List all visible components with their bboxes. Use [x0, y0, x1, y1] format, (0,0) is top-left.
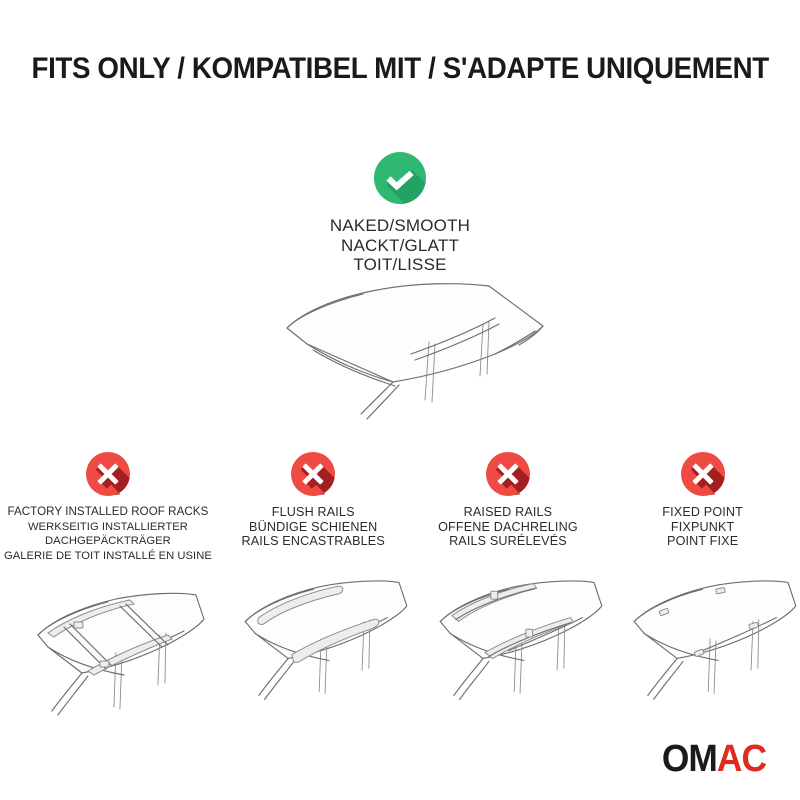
rejected-label-de-1: WERKSEITIG INSTALLIERTER	[4, 520, 212, 535]
rejected-label-de-2: DACHGEPÄCKTRÄGER	[4, 534, 212, 549]
rejected-labels: FACTORY INSTALLED ROOF RACKS WERKSEITIG …	[0, 505, 216, 563]
approved-label-en: NAKED/SMOOTH	[0, 216, 800, 236]
rejected-labels: RAISED RAILS OFFENE DACHRELING RAILS SUR…	[411, 505, 606, 549]
rejected-column-raised-rails: RAISED RAILS OFFENE DACHRELING RAILS SUR…	[411, 452, 606, 733]
rejected-column-flush-rails: FLUSH RAILS BÜNDIGE SCHIENEN RAILS ENCAS…	[216, 452, 411, 733]
omac-logo-dark-part: OM	[662, 738, 717, 780]
omac-logo-accent-part: AC	[717, 738, 766, 780]
rejected-labels: FIXED POINT FIXPUNKT POINT FIXE	[605, 505, 800, 549]
rejected-roof-types: FACTORY INSTALLED ROOF RACKS WERKSEITIG …	[0, 452, 800, 733]
omac-logo: OMAC	[662, 740, 766, 778]
red-x-circle-icon	[86, 452, 130, 496]
car-roof-factory-racks-illustration	[0, 573, 216, 733]
header: FITS ONLY / KOMPATIBEL MIT / S'ADAPTE UN…	[0, 52, 800, 86]
approved-roof-type: NAKED/SMOOTH NACKT/GLATT TOIT/LISSE	[0, 152, 800, 275]
rejected-column-factory-racks: FACTORY INSTALLED ROOF RACKS WERKSEITIG …	[0, 452, 216, 733]
rejected-label-fr: POINT FIXE	[609, 534, 796, 549]
car-roof-raised-rails-illustration	[411, 559, 606, 719]
red-x-circle-icon	[681, 452, 725, 496]
rejected-label-en: FLUSH RAILS	[220, 505, 407, 520]
rejected-label-de: OFFENE DACHRELING	[415, 520, 602, 535]
car-roof-naked-smooth-illustration	[243, 272, 563, 422]
rejected-label-de: FIXPUNKT	[609, 520, 796, 535]
rejected-label-en: FACTORY INSTALLED ROOF RACKS	[4, 505, 212, 520]
rejected-label-fr: RAILS ENCASTRABLES	[220, 534, 407, 549]
rejected-label-de: BÜNDIGE SCHIENEN	[220, 520, 407, 535]
page-title: FITS ONLY / KOMPATIBEL MIT / S'ADAPTE UN…	[31, 52, 768, 86]
rejected-labels: FLUSH RAILS BÜNDIGE SCHIENEN RAILS ENCAS…	[216, 505, 411, 549]
rejected-label-fr: RAILS SURÉLEVÉS	[415, 534, 602, 549]
rejected-label-fr: GALERIE DE TOIT INSTALLÉ EN USINE	[4, 549, 212, 564]
green-check-circle-icon	[374, 152, 426, 204]
rejected-column-fixed-point: FIXED POINT FIXPUNKT POINT FIXE	[605, 452, 800, 733]
approved-label-de: NACKT/GLATT	[0, 236, 800, 256]
red-x-circle-icon	[486, 452, 530, 496]
rejected-label-en: RAISED RAILS	[415, 505, 602, 520]
approved-labels: NAKED/SMOOTH NACKT/GLATT TOIT/LISSE	[0, 216, 800, 275]
rejected-label-en: FIXED POINT	[609, 505, 796, 520]
car-roof-fixed-point-illustration	[605, 559, 800, 719]
car-roof-flush-rails-illustration	[216, 559, 411, 719]
red-x-circle-icon	[291, 452, 335, 496]
